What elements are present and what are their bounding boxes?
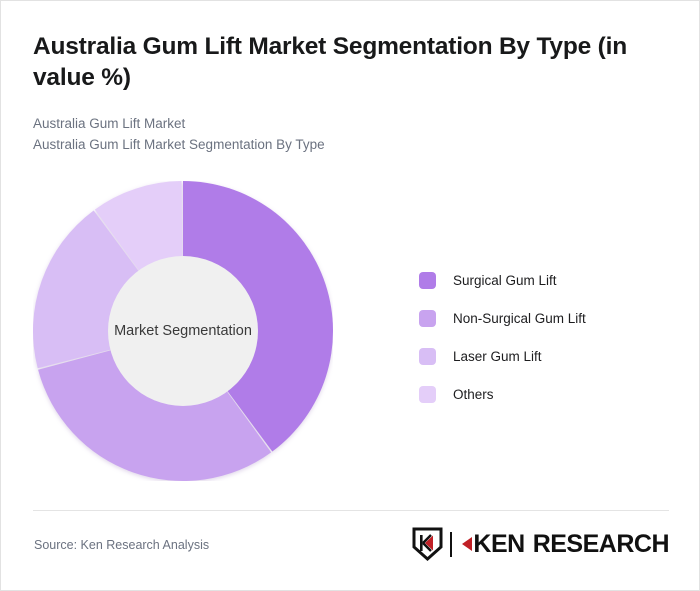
legend-item[interactable]: Others bbox=[419, 375, 674, 413]
subtitle-block: Australia Gum Lift Market Australia Gum … bbox=[33, 113, 633, 155]
chart-card: Australia Gum Lift Market Segmentation B… bbox=[0, 0, 700, 591]
subtitle-segmentation: Australia Gum Lift Market Segmentation B… bbox=[33, 134, 633, 155]
chart-legend: Surgical Gum LiftNon-Surgical Gum LiftLa… bbox=[419, 261, 674, 413]
donut-hole bbox=[108, 256, 258, 406]
legend-item[interactable]: Laser Gum Lift bbox=[419, 337, 674, 375]
source-note: Source: Ken Research Analysis bbox=[34, 538, 209, 552]
logo-word-ken: KEN bbox=[473, 532, 524, 557]
legend-swatch bbox=[419, 386, 436, 403]
logo-triangle-icon bbox=[462, 537, 472, 551]
legend-swatch bbox=[419, 272, 436, 289]
logo-separator bbox=[450, 532, 452, 557]
chart-area: Market Segmentation Surgical Gum LiftNon… bbox=[1, 161, 700, 501]
page-title: Australia Gum Lift Market Segmentation B… bbox=[33, 31, 653, 93]
logo-word-research: RESEARCH bbox=[533, 532, 669, 557]
ken-shield-icon bbox=[412, 527, 443, 561]
legend-item-label: Laser Gum Lift bbox=[453, 349, 542, 364]
legend-swatch bbox=[419, 310, 436, 327]
legend-item[interactable]: Non-Surgical Gum Lift bbox=[419, 299, 674, 337]
legend-item[interactable]: Surgical Gum Lift bbox=[419, 261, 674, 299]
donut-chart: Market Segmentation bbox=[33, 181, 333, 481]
footer-divider bbox=[33, 510, 669, 511]
logo-wordmark: KEN RESEARCH bbox=[460, 532, 669, 557]
legend-item-label: Surgical Gum Lift bbox=[453, 273, 557, 288]
donut-svg bbox=[33, 181, 333, 481]
legend-item-label: Others bbox=[453, 387, 494, 402]
legend-swatch bbox=[419, 348, 436, 365]
subtitle-market: Australia Gum Lift Market bbox=[33, 113, 633, 134]
legend-item-label: Non-Surgical Gum Lift bbox=[453, 311, 586, 326]
ken-research-logo: KEN RESEARCH bbox=[412, 526, 669, 562]
